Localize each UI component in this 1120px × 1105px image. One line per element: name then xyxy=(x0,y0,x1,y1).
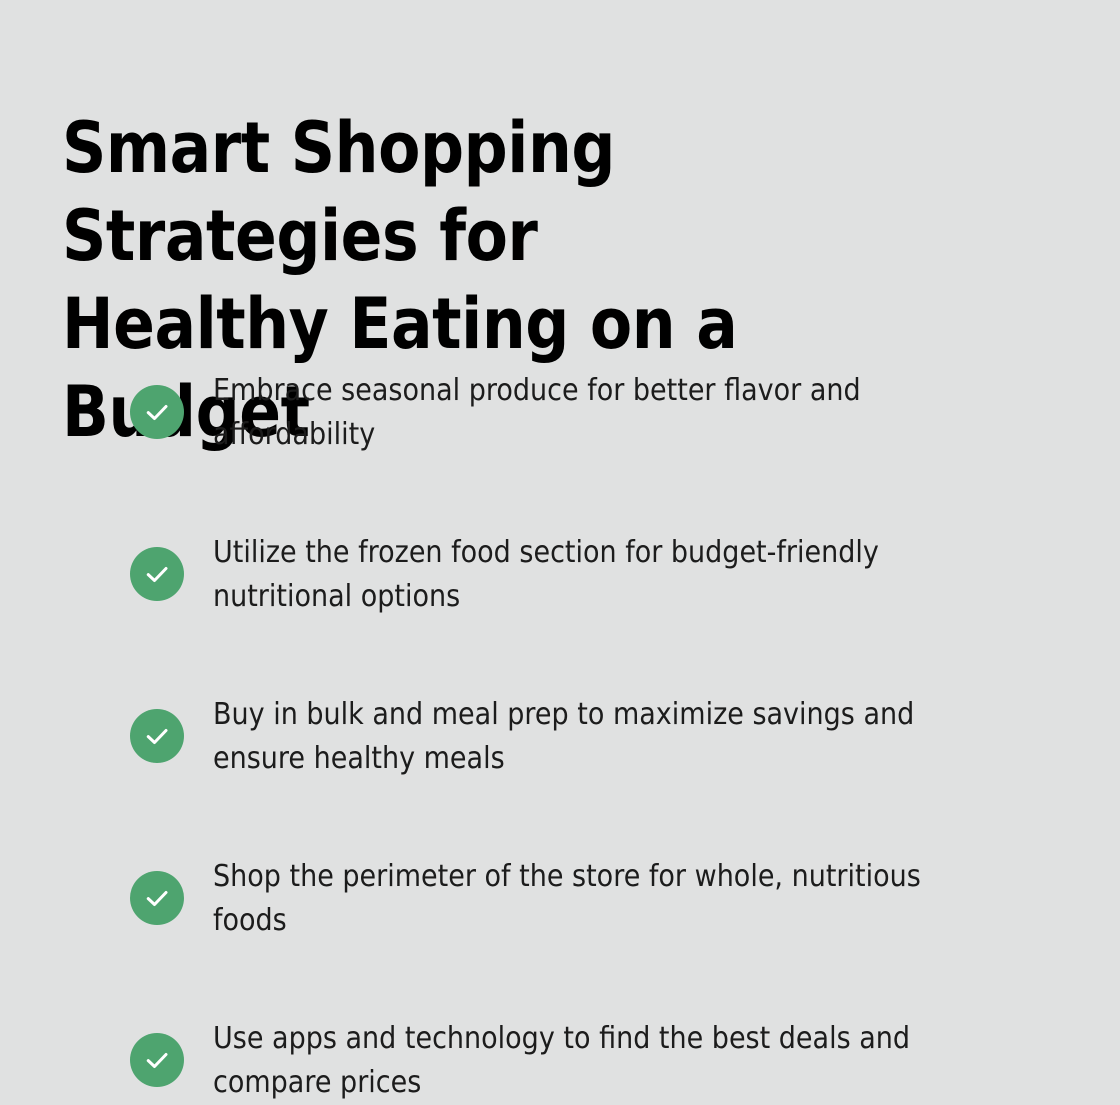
list-item: Utilize the frozen food section for budg… xyxy=(130,531,1030,619)
list-item: Use apps and technology to find the best… xyxy=(130,1017,1030,1105)
check-circle-icon xyxy=(130,709,184,763)
list-item-label: Use apps and technology to find the best… xyxy=(213,1017,948,1105)
list-item-label: Embrace seasonal produce for better flav… xyxy=(213,369,948,457)
list-item: Buy in bulk and meal prep to maximize sa… xyxy=(130,693,1030,781)
list-item-label: Utilize the frozen food section for budg… xyxy=(213,531,948,619)
check-circle-icon xyxy=(130,1033,184,1087)
check-circle-icon xyxy=(130,547,184,601)
list-item-label: Shop the perimeter of the store for whol… xyxy=(213,855,948,943)
check-circle-icon xyxy=(130,871,184,925)
check-circle-icon xyxy=(130,385,184,439)
list-item: Shop the perimeter of the store for whol… xyxy=(130,855,1030,943)
list-item-label: Buy in bulk and meal prep to maximize sa… xyxy=(213,693,948,781)
list-item: Embrace seasonal produce for better flav… xyxy=(130,369,1030,457)
checklist: Embrace seasonal produce for better flav… xyxy=(130,369,1030,1105)
slide-canvas: Smart Shopping Strategies for Healthy Ea… xyxy=(0,0,1120,1058)
